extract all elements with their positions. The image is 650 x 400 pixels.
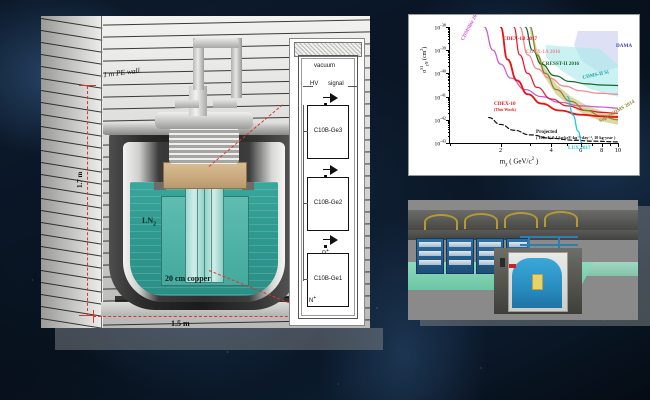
underground-lab-panel: [408, 200, 638, 320]
x-tick-label: 2: [499, 147, 502, 154]
tunnel-arch-1: [424, 214, 458, 230]
y-minor-tick: [448, 83, 451, 84]
detector-label-ge3: C10B-Ge3: [308, 128, 348, 134]
detector-label-ge1: C10B-Ge1: [308, 276, 348, 282]
shielding-cutaway-panel: 1 m PE wall 1.7 m LN2 20 cm copper 1.5 m…: [41, 16, 370, 328]
pipe-stub-right: [213, 100, 237, 108]
y-tick-label: 10-38: [435, 23, 446, 32]
y-minor-tick: [448, 34, 451, 35]
height-dimension-cap-top: [79, 85, 96, 86]
germanium-detector-string: [185, 185, 224, 283]
signal-lead: [348, 86, 358, 87]
y-minor-tick: [448, 121, 451, 122]
y-minor-tick: [448, 127, 451, 128]
y-minor-tick: [448, 99, 451, 100]
ln2-label: LN2: [142, 216, 156, 228]
y-minor-tick: [448, 136, 451, 137]
cryostat-bellows: [169, 128, 239, 164]
hv-tap-ge3: [303, 131, 308, 132]
y-minor-tick: [448, 106, 451, 107]
wall-corner-seam: [101, 16, 102, 328]
x-axis-label: mχ ( GeV/c2 ): [500, 157, 538, 168]
tunnel-arch-4: [544, 211, 578, 227]
curve-label-cresst-ii-2016: CRESST-II 2016: [542, 61, 579, 67]
y-minor-tick: [448, 74, 451, 75]
target-crystal-block: [163, 162, 247, 189]
y-minor-tick: [448, 59, 451, 60]
curve-label-cdex-1b-2017: CDEX-1B 2017: [503, 36, 537, 42]
hv-label: HV: [310, 81, 318, 87]
detector-schematic: vacuum HV signal C10B-Ge3 C10B-Ge2 P+ C1…: [289, 38, 365, 326]
x-tick-label: 4: [550, 147, 553, 154]
x-minor-tick: [610, 143, 611, 146]
y-minor-tick: [448, 77, 451, 78]
tank-marking: [509, 264, 516, 268]
preamp-ge3-icon: [330, 93, 338, 103]
exclusion-plot-panel: σSIχN (cm2) 10-3810-3910-4010-4110-4210-…: [408, 14, 640, 176]
hv-bus-lower: [303, 157, 304, 281]
height-dimension-label: 1.7 m: [76, 172, 84, 188]
plot-curves: [450, 27, 618, 143]
y-minor-tick: [448, 51, 451, 52]
y-minor-tick: [448, 29, 451, 30]
y-minor-tick: [448, 123, 451, 124]
tunnel-arch-2: [464, 213, 498, 229]
y-minor-tick: [448, 122, 451, 123]
y-minor-tick: [448, 125, 451, 126]
n-contact-label: N+: [309, 295, 316, 304]
plot-axes: 10-3810-3910-4010-4110-4210-43246810CDMS…: [449, 27, 618, 144]
y-minor-tick: [448, 31, 451, 32]
y-minor-tick: [448, 43, 451, 44]
person-figure: [500, 258, 505, 267]
left-wall: [41, 16, 103, 328]
y-tick-label: 10-42: [435, 115, 446, 124]
x-minor-tick: [530, 143, 531, 146]
y-minor-tick: [448, 55, 451, 56]
equipment-rack-1: [416, 238, 444, 274]
detector-box-ge2: C10B-Ge2: [307, 177, 349, 231]
x-tick-label: 10: [615, 147, 621, 154]
curve-label-cdex-10-this-work-: CDEX-10(This Work): [494, 101, 516, 112]
y-axis-label: σSIχN (cm2): [419, 47, 429, 73]
vacuum-label: vacuum: [314, 63, 335, 69]
y-minor-tick: [448, 100, 451, 101]
left-panel-shadow: [55, 328, 383, 350]
y-minor-tick: [448, 66, 451, 67]
tank-access-window: [532, 274, 543, 290]
curve-label-lux-2017: LUX 2017: [568, 145, 591, 151]
y-minor-tick: [448, 129, 451, 130]
y-minor-tick: [448, 32, 451, 33]
plot-inner: σSIχN (cm2) 10-3810-3910-4010-4110-4210-…: [419, 21, 631, 169]
y-minor-tick: [448, 39, 451, 40]
x-tick-label: 8: [600, 147, 603, 154]
copper-label: 20 cm copper: [165, 274, 211, 283]
y-minor-tick: [448, 54, 451, 55]
y-minor-tick: [448, 57, 451, 58]
y-minor-tick: [448, 86, 451, 87]
detector-box-ge3: C10B-Ge3: [307, 105, 349, 159]
width-dimension-label: 1.5 m: [171, 319, 190, 328]
y-minor-tick: [448, 113, 451, 114]
equipment-rack-2: [446, 238, 474, 274]
y-minor-tick: [448, 52, 451, 53]
y-minor-tick: [448, 80, 451, 81]
x-minor-tick: [592, 143, 593, 146]
y-minor-tick: [448, 90, 451, 91]
preamp-ge1-icon: [330, 235, 338, 245]
y-minor-tick: [448, 28, 451, 29]
detector-label-ge2: C10B-Ge2: [308, 200, 348, 206]
y-minor-tick: [448, 109, 451, 110]
y-minor-tick: [448, 62, 451, 63]
tunnel-arch-3: [504, 212, 538, 228]
y-minor-tick: [448, 79, 451, 80]
y-minor-tick: [448, 104, 451, 105]
y-minor-tick: [448, 36, 451, 37]
curve-label-cdex-1a-2016: CDEX-1A 2016: [526, 49, 560, 55]
y-tick-label: 10-39: [435, 46, 446, 55]
width-dimension-line: [93, 316, 308, 317]
curve-label-projected: Projected( 100 eV, 0.1 kg⋅keV⋅kg⁻¹⋅day⁻¹…: [536, 129, 615, 140]
y-tick-label: 10-43: [435, 139, 446, 148]
width-dimension-cap-left: [93, 310, 94, 323]
y-minor-tick: [448, 98, 451, 99]
feed-pipe-horizontal: [193, 38, 239, 48]
left-wall-bricks: [41, 16, 103, 328]
region-label-dama: DAMA: [616, 43, 632, 49]
preamp-ge2-icon: [330, 165, 338, 175]
y-tick-label: 10-40: [435, 69, 446, 78]
y-minor-tick: [448, 76, 451, 77]
x-minor-tick: [450, 143, 451, 146]
y-minor-tick: [448, 132, 451, 133]
y-tick-label: 10-41: [435, 92, 446, 101]
height-dimension-line: [87, 86, 88, 316]
signal-label: signal: [328, 81, 344, 87]
pipe-stub-left: [175, 100, 199, 108]
y-minor-tick: [448, 102, 451, 103]
